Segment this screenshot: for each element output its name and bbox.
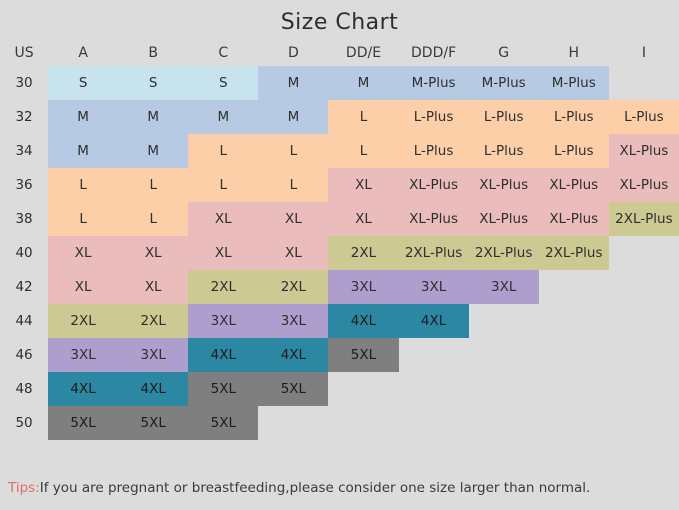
size-cell-44-a: 2XL xyxy=(48,304,118,338)
size-cell-38-dd-e: XL xyxy=(328,202,398,236)
size-cell-48-b: 4XL xyxy=(118,372,188,406)
tips-label: Tips: xyxy=(8,480,40,496)
empty-cell-44-i xyxy=(609,304,679,338)
column-header-ddd-f: DDD/F xyxy=(399,40,469,66)
column-header-b: B xyxy=(118,40,188,66)
column-header-dd-e: DD/E xyxy=(328,40,398,66)
size-cell-38-d: XL xyxy=(258,202,328,236)
size-cell-36-d: L xyxy=(258,168,328,202)
size-cell-38-a: L xyxy=(48,202,118,236)
size-cell-44-d: 3XL xyxy=(258,304,328,338)
row-header-us-32: 32 xyxy=(0,100,48,134)
size-cell-36-dd-e: XL xyxy=(328,168,398,202)
size-cell-40-b: XL xyxy=(118,236,188,270)
size-cell-36-g: XL-Plus xyxy=(469,168,539,202)
size-cell-34-a: M xyxy=(48,134,118,168)
size-cell-30-c: S xyxy=(188,66,258,100)
size-cell-40-c: XL xyxy=(188,236,258,270)
table-row: 42XLXL2XL2XL3XL3XL3XL xyxy=(0,270,679,304)
empty-cell-44-g xyxy=(469,304,539,338)
size-cell-50-c: 5XL xyxy=(188,406,258,440)
row-header-us-34: 34 xyxy=(0,134,48,168)
empty-cell-30-i xyxy=(609,66,679,100)
row-header-us-48: 48 xyxy=(0,372,48,406)
row-header-us-30: 30 xyxy=(0,66,48,100)
row-header-us-40: 40 xyxy=(0,236,48,270)
size-cell-36-ddd-f: XL-Plus xyxy=(399,168,469,202)
table-header: USABCDDD/EDDD/FGHI xyxy=(0,40,679,66)
size-cell-38-c: XL xyxy=(188,202,258,236)
size-cell-40-h: 2XL-Plus xyxy=(539,236,609,270)
size-cell-32-c: M xyxy=(188,100,258,134)
size-cell-38-h: XL-Plus xyxy=(539,202,609,236)
table-row: 30SSSMMM-PlusM-PlusM-Plus xyxy=(0,66,679,100)
size-cell-30-ddd-f: M-Plus xyxy=(399,66,469,100)
empty-cell-48-dd-e xyxy=(328,372,398,406)
size-cell-46-c: 4XL xyxy=(188,338,258,372)
tips-note: Tips:If you are pregnant or breastfeedin… xyxy=(8,480,590,496)
empty-cell-42-h xyxy=(539,270,609,304)
table-row: 505XL5XL5XL xyxy=(0,406,679,440)
size-cell-30-d: M xyxy=(258,66,328,100)
size-cell-32-g: L-Plus xyxy=(469,100,539,134)
size-cell-34-i: XL-Plus xyxy=(609,134,679,168)
size-cell-46-a: 3XL xyxy=(48,338,118,372)
size-cell-40-ddd-f: 2XL-Plus xyxy=(399,236,469,270)
empty-cell-40-i xyxy=(609,236,679,270)
empty-cell-48-i xyxy=(609,372,679,406)
table-row: 442XL2XL3XL3XL4XL4XL xyxy=(0,304,679,338)
column-header-c: C xyxy=(188,40,258,66)
size-cell-30-h: M-Plus xyxy=(539,66,609,100)
size-cell-34-g: L-Plus xyxy=(469,134,539,168)
row-header-us-42: 42 xyxy=(0,270,48,304)
size-cell-42-a: XL xyxy=(48,270,118,304)
empty-cell-50-i xyxy=(609,406,679,440)
size-cell-32-a: M xyxy=(48,100,118,134)
page-title: Size Chart xyxy=(0,0,679,38)
size-cell-40-d: XL xyxy=(258,236,328,270)
column-header-d: D xyxy=(258,40,328,66)
size-cell-38-i: 2XL-Plus xyxy=(609,202,679,236)
empty-cell-48-g xyxy=(469,372,539,406)
size-cell-48-d: 5XL xyxy=(258,372,328,406)
table-row: 34MMLLLL-PlusL-PlusL-PlusXL-Plus xyxy=(0,134,679,168)
size-cell-36-a: L xyxy=(48,168,118,202)
size-cell-40-a: XL xyxy=(48,236,118,270)
size-cell-44-c: 3XL xyxy=(188,304,258,338)
size-cell-36-b: L xyxy=(118,168,188,202)
size-cell-48-a: 4XL xyxy=(48,372,118,406)
size-cell-50-a: 5XL xyxy=(48,406,118,440)
size-cell-32-d: M xyxy=(258,100,328,134)
column-header-i: I xyxy=(609,40,679,66)
size-cell-38-g: XL-Plus xyxy=(469,202,539,236)
table-row: 38LLXLXLXLXL-PlusXL-PlusXL-Plus2XL-Plus xyxy=(0,202,679,236)
empty-cell-46-i xyxy=(609,338,679,372)
size-cell-44-dd-e: 4XL xyxy=(328,304,398,338)
column-header-g: G xyxy=(469,40,539,66)
column-header-a: A xyxy=(48,40,118,66)
size-cell-40-dd-e: 2XL xyxy=(328,236,398,270)
table-row: 32MMMMLL-PlusL-PlusL-PlusL-Plus xyxy=(0,100,679,134)
size-cell-30-dd-e: M xyxy=(328,66,398,100)
row-header-us-38: 38 xyxy=(0,202,48,236)
table-body: 30SSSMMM-PlusM-PlusM-Plus32MMMMLL-PlusL-… xyxy=(0,66,679,440)
empty-cell-46-h xyxy=(539,338,609,372)
size-chart-root: Size Chart USABCDDD/EDDD/FGHI 30SSSMMM-P… xyxy=(0,0,679,510)
size-cell-48-c: 5XL xyxy=(188,372,258,406)
size-cell-34-ddd-f: L-Plus xyxy=(399,134,469,168)
size-cell-32-ddd-f: L-Plus xyxy=(399,100,469,134)
size-cell-42-c: 2XL xyxy=(188,270,258,304)
size-cell-30-a: S xyxy=(48,66,118,100)
column-header-h: H xyxy=(539,40,609,66)
row-header-us-46: 46 xyxy=(0,338,48,372)
size-cell-30-g: M-Plus xyxy=(469,66,539,100)
size-cell-36-h: XL-Plus xyxy=(539,168,609,202)
size-cell-36-c: L xyxy=(188,168,258,202)
size-cell-42-g: 3XL xyxy=(469,270,539,304)
size-chart-table: USABCDDD/EDDD/FGHI 30SSSMMM-PlusM-PlusM-… xyxy=(0,40,679,440)
size-cell-32-i: L-Plus xyxy=(609,100,679,134)
size-cell-42-d: 2XL xyxy=(258,270,328,304)
empty-cell-48-h xyxy=(539,372,609,406)
empty-cell-50-h xyxy=(539,406,609,440)
empty-cell-46-ddd-f xyxy=(399,338,469,372)
empty-cell-50-g xyxy=(469,406,539,440)
row-header-us-50: 50 xyxy=(0,406,48,440)
tips-text: If you are pregnant or breastfeeding,ple… xyxy=(40,480,591,496)
empty-cell-44-h xyxy=(539,304,609,338)
empty-cell-50-d xyxy=(258,406,328,440)
size-cell-34-dd-e: L xyxy=(328,134,398,168)
size-cell-42-dd-e: 3XL xyxy=(328,270,398,304)
size-cell-34-d: L xyxy=(258,134,328,168)
size-cell-50-b: 5XL xyxy=(118,406,188,440)
size-cell-32-b: M xyxy=(118,100,188,134)
size-cell-30-b: S xyxy=(118,66,188,100)
table-row: 40XLXLXLXL2XL2XL-Plus2XL-Plus2XL-Plus xyxy=(0,236,679,270)
size-cell-34-b: M xyxy=(118,134,188,168)
empty-cell-46-g xyxy=(469,338,539,372)
size-cell-46-d: 4XL xyxy=(258,338,328,372)
header-row: USABCDDD/EDDD/FGHI xyxy=(0,40,679,66)
column-header-us: US xyxy=(0,40,48,66)
size-cell-46-dd-e: 5XL xyxy=(328,338,398,372)
size-cell-44-b: 2XL xyxy=(118,304,188,338)
size-cell-40-g: 2XL-Plus xyxy=(469,236,539,270)
size-cell-34-h: L-Plus xyxy=(539,134,609,168)
empty-cell-48-ddd-f xyxy=(399,372,469,406)
size-cell-44-ddd-f: 4XL xyxy=(399,304,469,338)
table-row: 463XL3XL4XL4XL5XL xyxy=(0,338,679,372)
empty-cell-50-ddd-f xyxy=(399,406,469,440)
empty-cell-42-i xyxy=(609,270,679,304)
table-row: 36LLLLXLXL-PlusXL-PlusXL-PlusXL-Plus xyxy=(0,168,679,202)
size-cell-32-dd-e: L xyxy=(328,100,398,134)
table-row: 484XL4XL5XL5XL xyxy=(0,372,679,406)
size-cell-38-ddd-f: XL-Plus xyxy=(399,202,469,236)
size-cell-34-c: L xyxy=(188,134,258,168)
size-cell-42-b: XL xyxy=(118,270,188,304)
empty-cell-50-dd-e xyxy=(328,406,398,440)
row-header-us-44: 44 xyxy=(0,304,48,338)
row-header-us-36: 36 xyxy=(0,168,48,202)
size-cell-42-ddd-f: 3XL xyxy=(399,270,469,304)
size-cell-38-b: L xyxy=(118,202,188,236)
size-cell-46-b: 3XL xyxy=(118,338,188,372)
size-cell-36-i: XL-Plus xyxy=(609,168,679,202)
size-cell-32-h: L-Plus xyxy=(539,100,609,134)
